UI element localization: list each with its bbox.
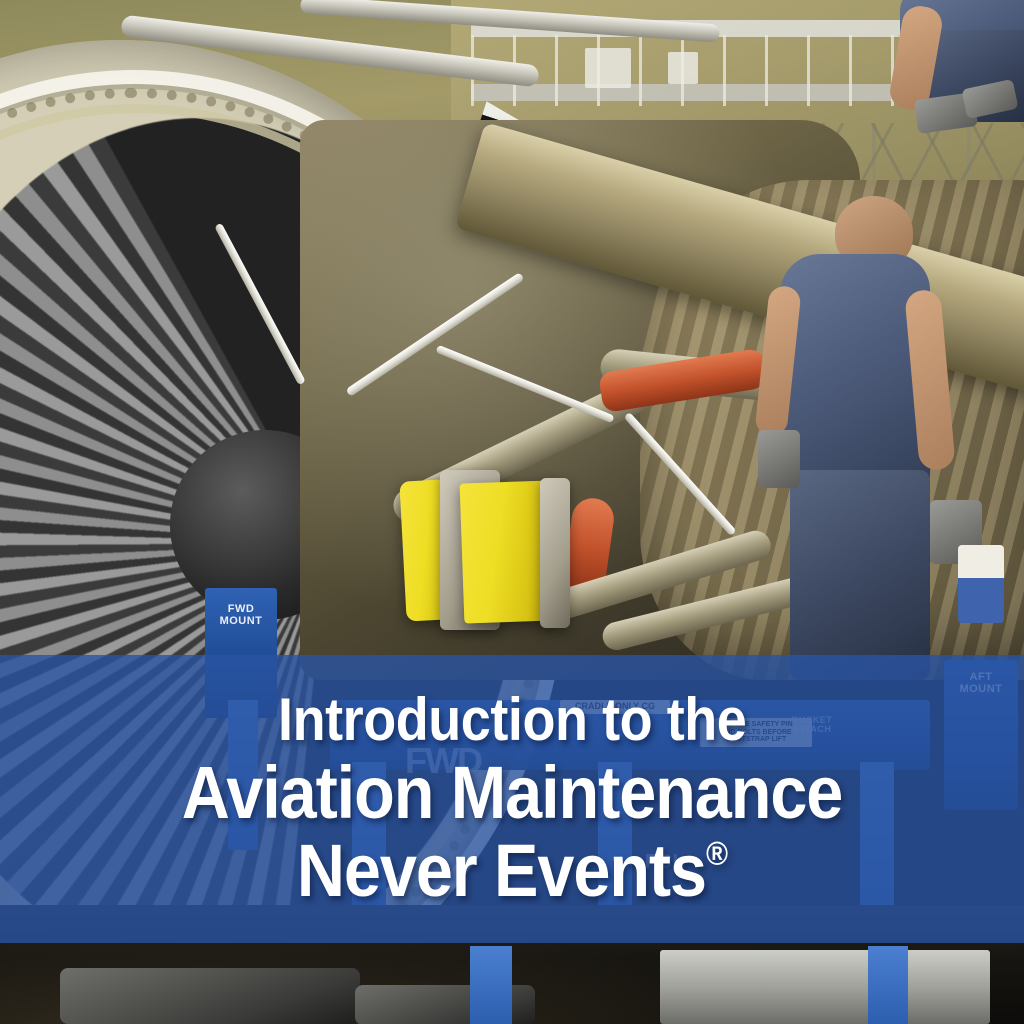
technician-pants (790, 470, 930, 680)
technician-glove (758, 430, 800, 488)
hand-tool (958, 545, 1004, 623)
promo-card: FWDMOUNT AFTMOUNT CRADLE ONLY CG REMOVE … (0, 0, 1024, 1024)
accessory-unit (540, 478, 570, 628)
title-overlay-band: Introduction to the Aviation Maintenance… (0, 655, 1024, 943)
wall-panel (585, 48, 631, 88)
wall-panel (668, 52, 698, 84)
title-block: Introduction to the Aviation Maintenance… (0, 655, 1024, 943)
title-line-1: Introduction to the (278, 690, 746, 750)
registered-trademark-icon: ® (706, 835, 727, 872)
title-line-2: Aviation Maintenance (182, 756, 843, 830)
equipment-cart (660, 950, 990, 1024)
technician-shirt (780, 254, 930, 484)
title-line-3: Never Events® (297, 834, 727, 908)
fwd-mount-label: FWDMOUNT (205, 604, 277, 627)
floor-jack-blue (868, 946, 908, 1024)
floor-equipment (60, 968, 360, 1024)
floor-jack-blue (470, 946, 512, 1024)
title-line-3-text: Never Events (297, 829, 706, 912)
